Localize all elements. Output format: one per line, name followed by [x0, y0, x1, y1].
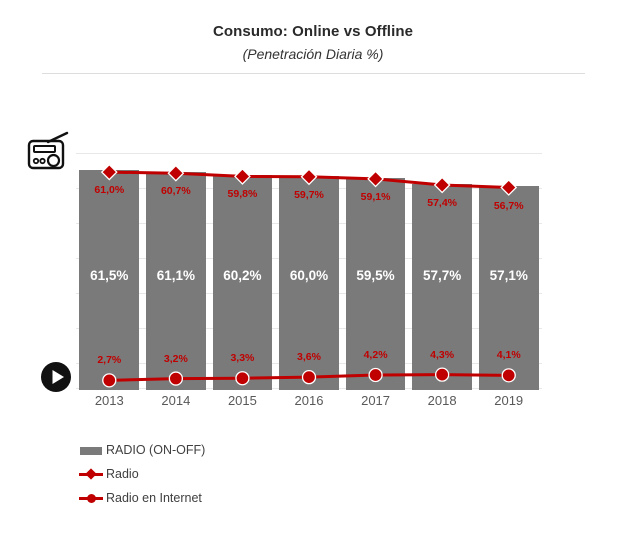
marker-diamond-2016 [302, 169, 317, 184]
marker-circle-2015 [236, 372, 249, 385]
marker-diamond-2014 [168, 166, 183, 181]
marker-circle-2013 [103, 374, 116, 387]
play-icon [40, 361, 72, 393]
bar-swatch-icon [78, 442, 104, 458]
radio-value-label: 59,8% [209, 188, 276, 200]
plot-area: 61,5%61,1%60,2%60,0%59,5%57,7%57,1% 61,0… [76, 140, 542, 390]
radio-value-label: 59,7% [276, 189, 343, 201]
radio-value-label: 59,1% [342, 191, 409, 203]
radio-icon [26, 131, 72, 173]
internet-value-label: 4,1% [475, 349, 542, 361]
legend-label: Radio [106, 467, 139, 481]
marker-circle-2014 [169, 372, 182, 385]
internet-value-label: 3,2% [143, 353, 210, 365]
title-divider [42, 73, 585, 74]
internet-value-label: 3,6% [276, 351, 343, 363]
page-subtitle: (Penetración Diaria %) [0, 44, 626, 64]
internet-value-label: 4,3% [409, 349, 476, 361]
marker-diamond-2019 [501, 180, 516, 195]
marker-diamond-2013 [102, 165, 117, 180]
legend-item-radio[interactable]: Radio [78, 462, 378, 486]
slide-canvas: Consumo: Online vs Offline (Penetración … [0, 0, 626, 536]
marker-circle-2018 [436, 368, 449, 381]
marker-diamond-2017 [368, 171, 383, 186]
x-axis: 2013201420152016201720182019 [76, 393, 542, 413]
chart-legend: RADIO (ON-OFF) Radio Radio en Internet [78, 438, 378, 510]
internet-value-label: 3,3% [209, 352, 276, 364]
marker-diamond-2015 [235, 169, 250, 184]
x-tick-2016: 2016 [276, 393, 343, 408]
marker-circle-2016 [303, 371, 316, 384]
radio-value-label: 61,0% [76, 184, 143, 196]
legend-item-radio-on-off[interactable]: RADIO (ON-OFF) [78, 438, 378, 462]
legend-label: RADIO (ON-OFF) [106, 443, 205, 457]
legend-item-radio-en-internet[interactable]: Radio en Internet [78, 486, 378, 510]
x-tick-2017: 2017 [342, 393, 409, 408]
radio-value-label: 60,7% [143, 185, 210, 197]
x-tick-2013: 2013 [76, 393, 143, 408]
marker-circle-2019 [502, 369, 515, 382]
x-tick-2015: 2015 [209, 393, 276, 408]
x-tick-2019: 2019 [475, 393, 542, 408]
x-tick-2018: 2018 [409, 393, 476, 408]
marker-diamond-2018 [435, 178, 450, 193]
radio-value-label: 57,4% [409, 197, 476, 209]
internet-value-label: 4,2% [342, 349, 409, 361]
chart-title-block: Consumo: Online vs Offline (Penetración … [0, 22, 626, 64]
radio-value-label: 56,7% [475, 200, 542, 212]
legend-label: Radio en Internet [106, 491, 202, 505]
x-tick-2014: 2014 [143, 393, 210, 408]
marker-circle-2017 [369, 369, 382, 382]
internet-value-label: 2,7% [76, 354, 143, 366]
line-diamond-swatch-icon [78, 466, 104, 482]
page-title: Consumo: Online vs Offline [0, 22, 626, 42]
line-circle-swatch-icon [78, 490, 104, 506]
